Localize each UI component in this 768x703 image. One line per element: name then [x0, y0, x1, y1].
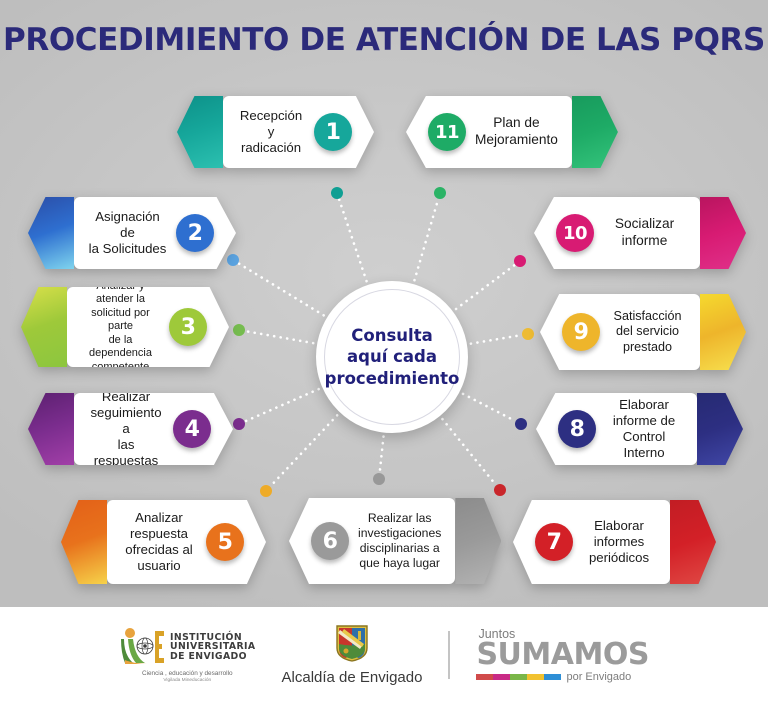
iue-tagline: Ciencia , educación y desarrollo	[142, 670, 233, 677]
connector-line-8	[463, 394, 515, 421]
step-label-9: Satisfaccióndel servicioprestado	[609, 309, 686, 355]
step-number-badge-7: 7	[535, 523, 573, 561]
step-label-line: respuesta	[121, 526, 197, 542]
center-hub-line-2: aquí cada	[325, 346, 460, 367]
infographic-canvas: PROCEDIMIENTO DE ATENCIÓN DE LAS PQRS Co…	[0, 0, 768, 703]
step-label-10: Socializarinforme	[603, 216, 686, 249]
step-card-body-9: 9Satisfaccióndel servicioprestado	[540, 294, 700, 370]
footer-divider	[448, 631, 450, 679]
alcaldia-label: Alcaldía de Envigado	[282, 669, 423, 686]
iue-emblem-icon	[119, 627, 165, 667]
step-label-line: Elaborar	[582, 518, 656, 534]
step-number-badge-8: 8	[558, 410, 596, 448]
step-label-line: Realizar las	[358, 511, 441, 526]
step-label-5: Analizarrespuestaofrecidas alusuario	[121, 510, 197, 574]
connector-dot-11	[434, 187, 446, 199]
step-label-line: disciplinarias a	[358, 541, 441, 556]
connector-line-4	[245, 389, 318, 421]
connector-line-2	[239, 264, 324, 316]
step-arrow-tail-3	[21, 287, 67, 367]
step-arrow-tail-7	[670, 500, 716, 584]
step-number-badge-3: 3	[169, 308, 207, 346]
step-number-badge-4: 4	[173, 410, 211, 448]
connector-dot-9	[522, 328, 534, 340]
sumamos-color-stripes	[476, 674, 561, 680]
step-card-body-3: Analizar y atender lasolicitud por parte…	[67, 287, 229, 367]
step-card-shell-7: 7Elaborarinformesperiódicos	[513, 500, 716, 584]
step-arrow-tail-9	[700, 294, 746, 370]
step-arrow-tail-4	[28, 393, 74, 465]
step-label-line: periódicos	[582, 550, 656, 566]
step-label-line: usuario	[121, 558, 197, 574]
step-arrow-tail-1	[177, 96, 223, 168]
sumamos-por-label: por Envigado	[566, 671, 631, 683]
coat-of-arms-icon	[335, 624, 369, 667]
center-hub-line-3: procedimiento	[325, 368, 460, 389]
step-card-10[interactable]: 10Socializarinforme	[534, 197, 746, 269]
step-card-body-11: 11Plan deMejoramiento	[406, 96, 572, 168]
step-card-body-6: 6Realizar lasinvestigacionesdisciplinari…	[289, 498, 455, 584]
step-label-line: Plan de	[475, 115, 558, 132]
step-label-6: Realizar lasinvestigacionesdisciplinaria…	[358, 511, 441, 571]
step-card-7[interactable]: 7Elaborarinformesperiódicos	[513, 500, 716, 584]
step-label-line: informe	[603, 233, 686, 250]
connector-dot-6	[373, 473, 385, 485]
connector-dot-10	[514, 255, 526, 267]
step-card-body-5: Analizarrespuestaofrecidas alusuario5	[107, 500, 266, 584]
step-label-line: Mejoramiento	[475, 132, 558, 149]
step-label-line: informes	[582, 534, 656, 550]
step-label-line: Elaborar	[605, 397, 683, 413]
connector-line-1	[339, 200, 366, 282]
step-label-line: Control Interno	[605, 429, 683, 461]
sumamos-stripe-3	[527, 674, 544, 680]
step-card-shell-3: Analizar y atender lasolicitud por parte…	[21, 287, 229, 367]
step-label-line: informe de	[605, 413, 683, 429]
step-label-8: Elaborarinforme deControl Interno	[605, 397, 683, 461]
connector-dot-4	[233, 418, 245, 430]
step-label-line: ofrecidas al	[121, 542, 197, 558]
connector-line-11	[414, 200, 438, 281]
step-card-shell-6: 6Realizar lasinvestigacionesdisciplinari…	[289, 498, 489, 584]
step-label-line: las respuestas	[88, 437, 164, 469]
step-card-5[interactable]: Analizarrespuestaofrecidas alusuario5	[61, 500, 266, 584]
iue-line-3: DE ENVIGADO	[170, 652, 255, 661]
step-number-badge-10: 10	[556, 214, 594, 252]
step-card-body-4: Realizarseguimiento alas respuestas4	[74, 393, 233, 465]
step-label-line: del servicio	[609, 324, 686, 339]
connector-line-5	[271, 415, 337, 486]
step-arrow-tail-8	[697, 393, 743, 465]
step-label-line: seguimiento a	[88, 405, 164, 437]
step-number-badge-2: 2	[176, 214, 214, 252]
step-number-badge-5: 5	[206, 523, 244, 561]
step-label-7: Elaborarinformesperiódicos	[582, 518, 656, 566]
iue-subtagline: Vigilada Mineducación	[163, 678, 211, 683]
step-card-3[interactable]: Analizar y atender lasolicitud por parte…	[21, 287, 229, 367]
step-number-badge-11: 11	[428, 113, 466, 151]
step-label-1: Recepción yradicación	[237, 108, 305, 156]
step-label-4: Realizarseguimiento alas respuestas	[88, 389, 164, 469]
step-arrow-tail-2	[28, 197, 74, 269]
step-label-line: de la dependencia	[81, 334, 160, 361]
center-hub-line-1: Consulta	[325, 325, 460, 346]
step-card-9[interactable]: 9Satisfaccióndel servicioprestado	[540, 294, 746, 370]
connector-line-10	[456, 265, 514, 309]
step-label-line: que haya lugar	[358, 556, 441, 571]
connector-dot-8	[515, 418, 527, 430]
sumamos-stripe-2	[510, 674, 527, 680]
connector-line-6	[380, 437, 384, 472]
connector-dot-5	[260, 485, 272, 497]
step-label-line: Analizar	[121, 510, 197, 526]
step-label-3: Analizar y atender lasolicitud por parte…	[81, 280, 160, 374]
center-hub[interactable]: Consulta aquí cada procedimiento	[316, 281, 468, 433]
sumamos-stripe-1	[493, 674, 510, 680]
step-card-body-8: 8Elaborarinforme deControl Interno	[536, 393, 697, 465]
step-number-badge-9: 9	[562, 313, 600, 351]
connector-line-7	[442, 419, 495, 484]
step-card-shell-11: 11Plan deMejoramiento	[406, 96, 606, 168]
center-hub-text: Consulta aquí cada procedimiento	[315, 325, 470, 388]
step-label-line: Socializar	[603, 216, 686, 233]
logo-institucion-universitaria-envigado: INSTITUCIÓN UNIVERSITARIA DE ENVIGADO Ci…	[119, 627, 255, 683]
sumamos-wordmark: SUMAMOS	[476, 641, 649, 669]
step-card-body-2: Asignación dela Solicitudes2	[74, 197, 236, 269]
step-card-body-1: Recepción yradicación1	[223, 96, 374, 168]
footer: INSTITUCIÓN UNIVERSITARIA DE ENVIGADO Ci…	[0, 607, 768, 703]
step-number-badge-6: 6	[311, 522, 349, 560]
step-card-8[interactable]: 8Elaborarinforme deControl Interno	[536, 393, 743, 465]
step-card-shell-2: Asignación dela Solicitudes2	[28, 197, 236, 269]
step-label-line: Satisfacción	[609, 309, 686, 324]
step-card-shell-10: 10Socializarinforme	[534, 197, 746, 269]
step-label-line: prestado	[609, 340, 686, 355]
step-card-11[interactable]: 11Plan deMejoramiento	[406, 96, 606, 168]
step-number-badge-1: 1	[314, 113, 352, 151]
sumamos-stripe-0	[476, 674, 493, 680]
step-arrow-tail-5	[61, 500, 107, 584]
step-card-4[interactable]: Realizarseguimiento alas respuestas4	[28, 393, 233, 465]
step-card-2[interactable]: Asignación dela Solicitudes2	[28, 197, 236, 269]
logo-alcaldia-envigado: Alcaldía de Envigado	[282, 624, 423, 686]
logo-juntos-sumamos: Juntos SUMAMOS por Envigado	[476, 627, 649, 683]
step-label-line: Recepción y	[237, 108, 305, 140]
step-card-1[interactable]: Recepción yradicación1	[177, 96, 374, 168]
step-card-shell-8: 8Elaborarinforme deControl Interno	[536, 393, 743, 465]
step-label-line: la Solicitudes	[88, 241, 167, 257]
step-card-shell-1: Recepción yradicación1	[177, 96, 374, 168]
step-card-body-7: 7Elaborarinformesperiódicos	[513, 500, 670, 584]
step-label-2: Asignación dela Solicitudes	[88, 209, 167, 257]
step-card-6[interactable]: 6Realizar lasinvestigacionesdisciplinari…	[289, 498, 489, 584]
step-label-line: solicitud por parte	[81, 307, 160, 334]
connector-dot-7	[494, 484, 506, 496]
step-card-shell-9: 9Satisfaccióndel servicioprestado	[540, 294, 746, 370]
step-label-line: radicación	[237, 140, 305, 156]
connector-dot-1	[331, 187, 343, 199]
connector-dot-3	[233, 324, 245, 336]
step-label-11: Plan deMejoramiento	[475, 115, 558, 148]
step-arrow-tail-10	[700, 197, 746, 269]
connector-line-9	[471, 335, 521, 343]
sumamos-stripe-4	[544, 674, 561, 680]
step-card-shell-5: Analizarrespuestaofrecidas alusuario5	[61, 500, 266, 584]
connector-line-3	[246, 331, 313, 343]
step-card-body-10: 10Socializarinforme	[534, 197, 700, 269]
step-label-line: investigaciones	[358, 526, 441, 541]
step-label-line: Asignación de	[88, 209, 167, 241]
step-card-shell-4: Realizarseguimiento alas respuestas4	[28, 393, 233, 465]
